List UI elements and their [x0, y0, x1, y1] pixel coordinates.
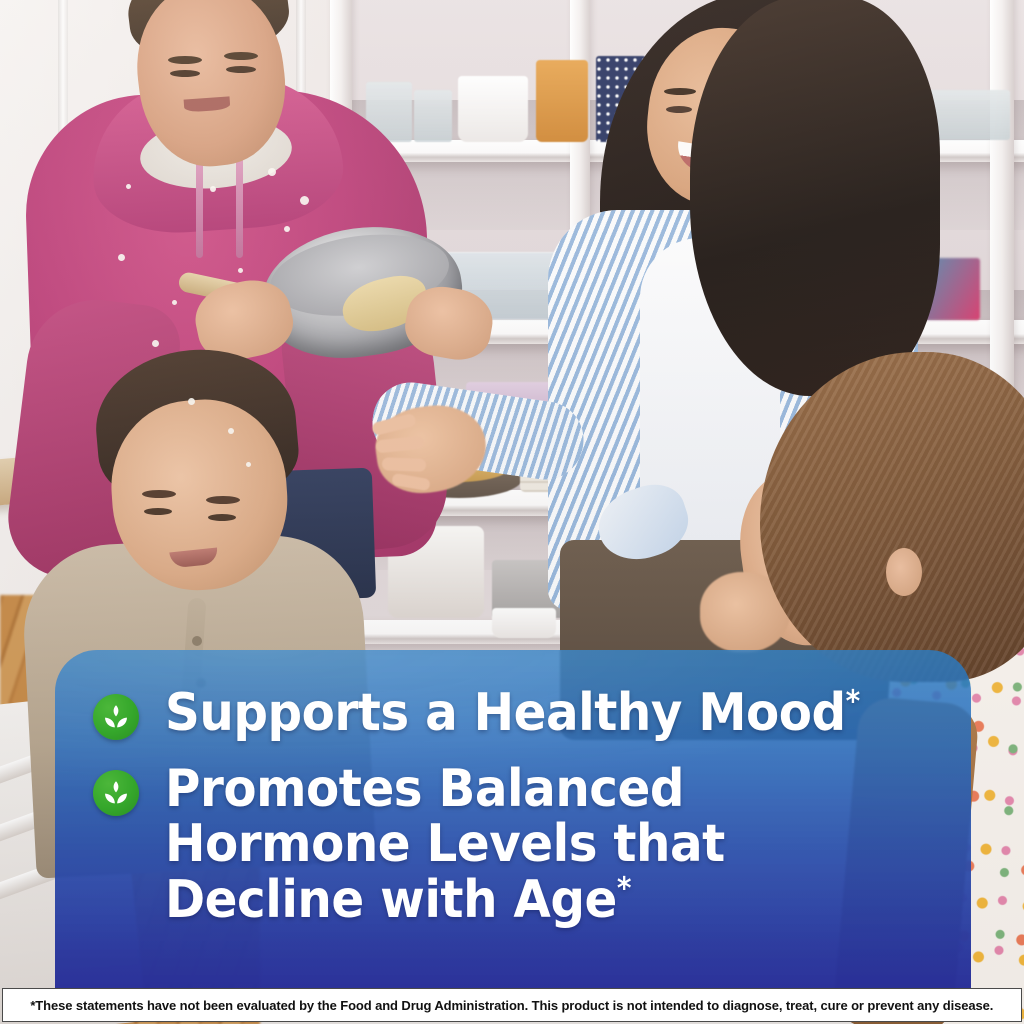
benefit-item-hormones: Promotes Balanced Hormone Levels that De… [93, 762, 941, 929]
hood-drawstring [196, 150, 203, 258]
boy-eyebrow [142, 490, 176, 498]
flour-speck [246, 462, 251, 467]
woman-eyebrow [664, 88, 696, 95]
flour-speck [126, 184, 131, 189]
woman-eye [666, 106, 692, 113]
disclaimer-text: *These statements have not been evaluate… [31, 998, 994, 1013]
white-dish [492, 608, 556, 638]
flour-speck [238, 268, 243, 273]
benefits-panel: Supports a Healthy Mood* Promotes Balanc… [55, 650, 971, 988]
girl-ear [886, 548, 922, 596]
boy-eye [208, 514, 236, 521]
flour-speck [188, 398, 195, 405]
flour-speck [300, 196, 309, 205]
flour-speck [152, 340, 159, 347]
man-eyebrow [224, 52, 258, 60]
man-eyebrow [168, 56, 202, 64]
benefit-text-hormones: Promotes Balanced Hormone Levels that De… [165, 762, 725, 929]
white-mug [458, 76, 528, 142]
man-eye [170, 70, 200, 77]
flour-speck [172, 300, 177, 305]
boy-eye [144, 508, 172, 515]
shirt-button [192, 636, 202, 646]
ad-banner: Supports a Healthy Mood* Promotes Balanc… [0, 0, 1024, 1024]
glass-jar [414, 90, 452, 142]
leaf-sprout-icon [93, 770, 139, 816]
flour-speck [118, 254, 125, 261]
amber-jar [536, 60, 588, 142]
footnote-marker: * [617, 872, 631, 907]
benefit-list: Supports a Healthy Mood* Promotes Balanc… [55, 650, 971, 929]
man-eye [226, 66, 256, 73]
footnote-marker: * [846, 685, 860, 720]
flour-speck [210, 186, 216, 192]
disclaimer-bar: *These statements have not been evaluate… [2, 988, 1022, 1022]
finger [382, 457, 426, 472]
flour-speck [228, 428, 234, 434]
woman-hair-front [690, 0, 940, 396]
benefit-text-mood: Supports a Healthy Mood* [165, 686, 860, 742]
benefit-item-mood: Supports a Healthy Mood* [93, 686, 941, 742]
hood-drawstring [236, 150, 243, 258]
boy-eyebrow [206, 496, 240, 504]
flour-speck [284, 226, 290, 232]
flour-speck [268, 168, 276, 176]
leaf-sprout-icon [93, 694, 139, 740]
